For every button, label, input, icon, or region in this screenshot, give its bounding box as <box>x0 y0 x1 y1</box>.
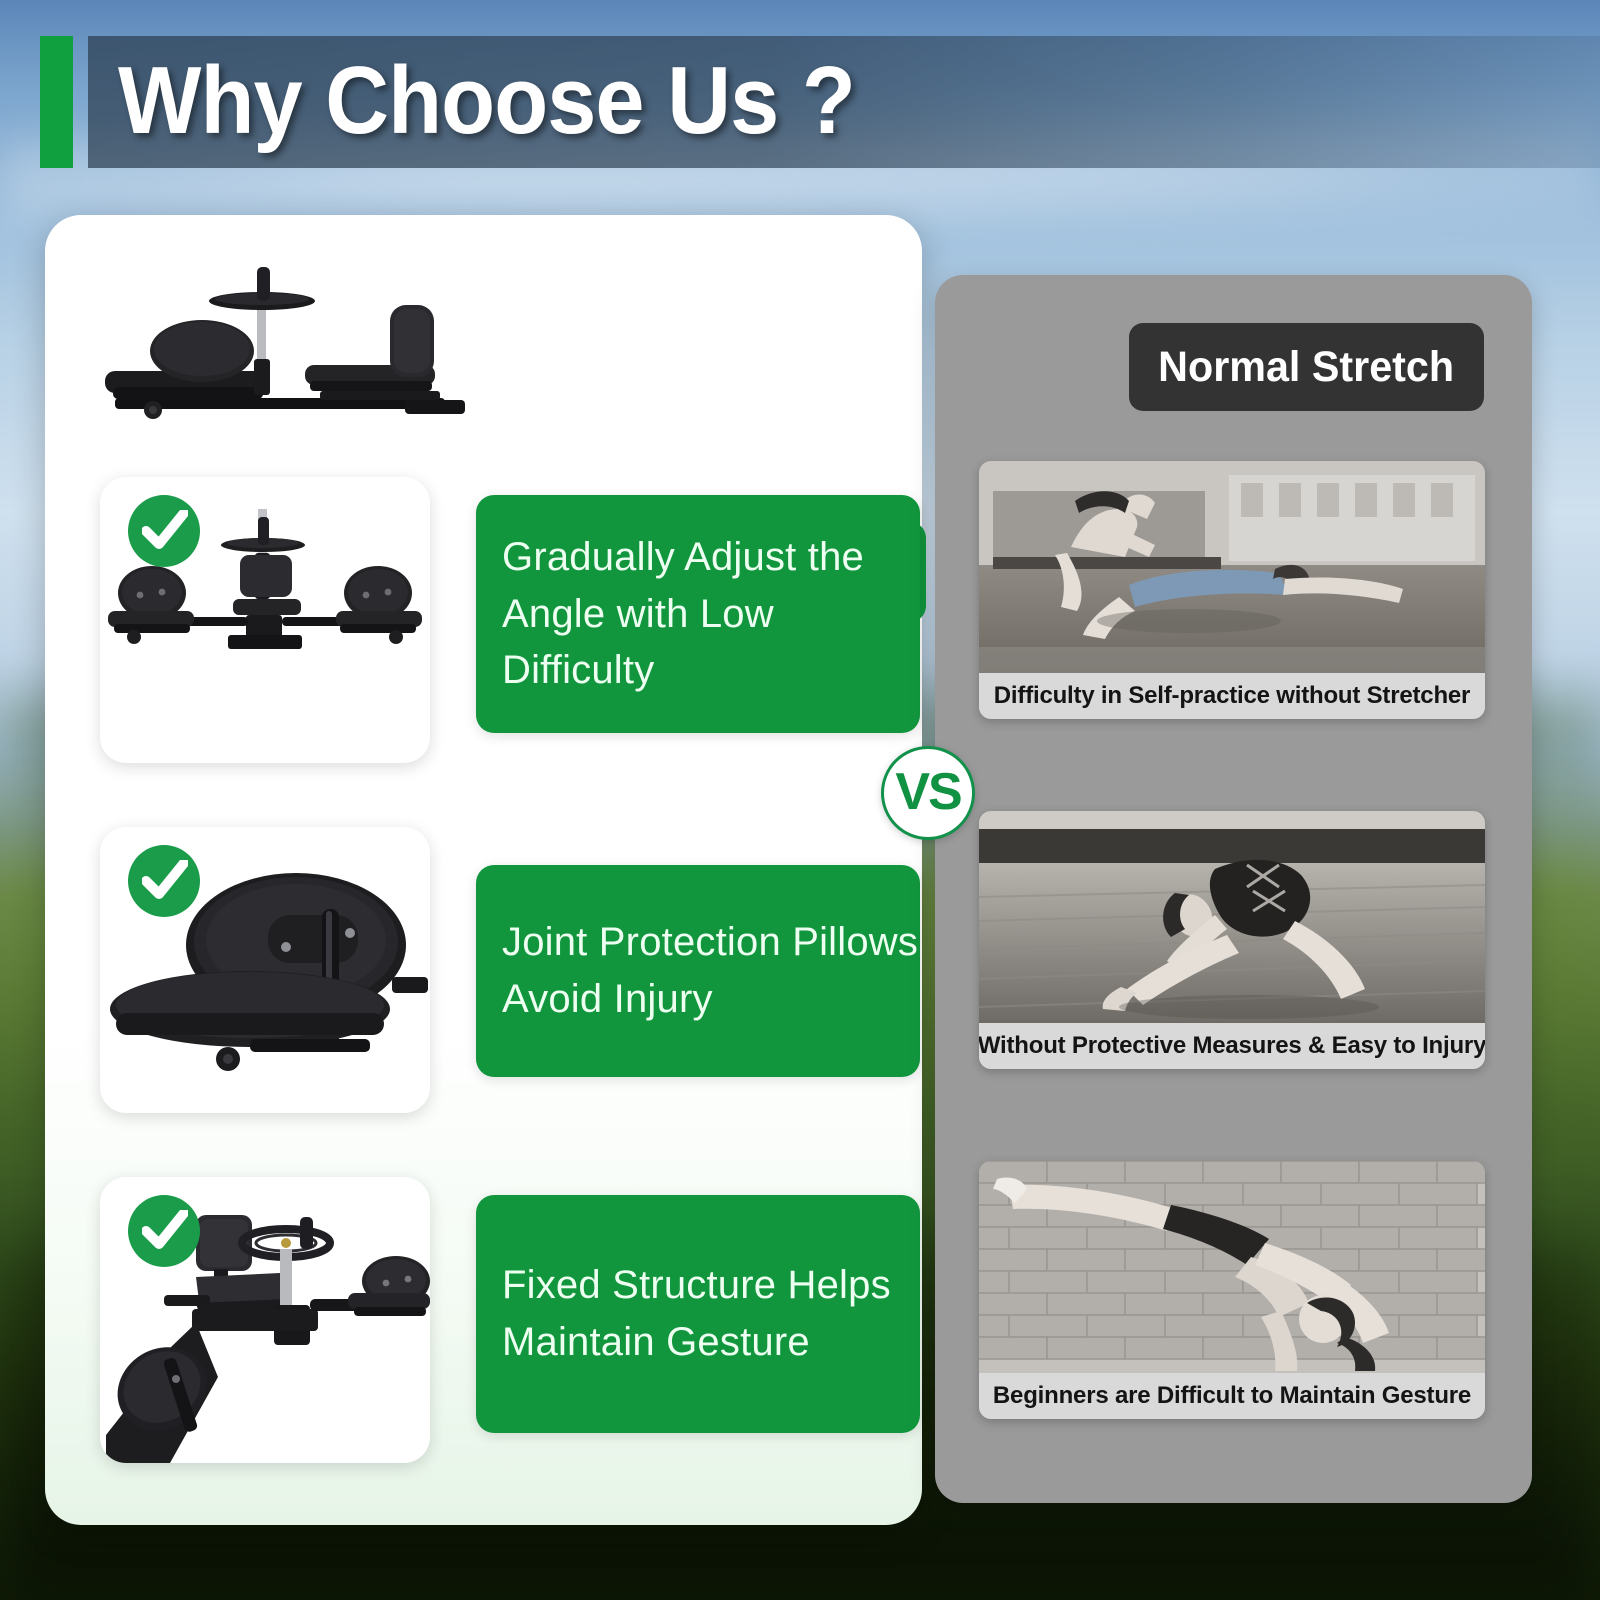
versus-label: VS <box>895 766 960 818</box>
leg-stretcher-card: Leg Stretcher <box>45 215 922 1525</box>
feature-1-text-card: Gradually Adjust the Angle with Low Diff… <box>476 495 920 733</box>
comparison-caption-1-text: Difficulty in Self-practice without Stre… <box>994 682 1470 710</box>
feature-2-text-card: Joint Protection Pillows Avoid Injury <box>476 865 920 1077</box>
feature-row-3: Fixed Structure Helps Maintain Gesture <box>100 1177 920 1463</box>
comparison-caption-3-text: Beginners are Difficult to Maintain Gest… <box>993 1382 1471 1410</box>
feature-row-2: Joint Protection Pillows Avoid Injury <box>100 827 920 1113</box>
page-header: Why Choose Us ? <box>0 28 1600 168</box>
comparison-caption-3: Beginners are Difficult to Maintain Gest… <box>979 1373 1485 1419</box>
feature-3-text-card: Fixed Structure Helps Maintain Gesture <box>476 1195 920 1433</box>
floor-side-split-stretch-photo <box>979 811 1485 1023</box>
normal-stretch-panel: Normal Stretch <box>935 275 1532 1503</box>
versus-badge: VS <box>881 746 975 840</box>
comparison-photo-card-3: Beginners are Difficult to Maintain Gest… <box>979 1161 1485 1419</box>
header-accent-bar <box>40 36 73 168</box>
comparison-caption-2-text: Without Protective Measures & Easy to In… <box>979 1032 1485 1060</box>
check-icon <box>128 845 200 917</box>
leg-stretcher-side-view-image <box>105 255 495 430</box>
comparison-caption-2: Without Protective Measures & Easy to In… <box>979 1023 1485 1069</box>
feature-3-text: Fixed Structure Helps Maintain Gesture <box>502 1257 920 1371</box>
normal-stretch-badge-label: Normal Stretch <box>1159 343 1455 392</box>
page-title: Why Choose Us ? <box>118 42 855 164</box>
feature-1-image-card <box>100 477 430 763</box>
normal-stretch-badge: Normal Stretch <box>1129 323 1484 411</box>
partner-assisted-stretch-photo <box>979 461 1485 673</box>
comparison-caption-1: Difficulty in Self-practice without Stre… <box>979 673 1485 719</box>
feature-row-1: Gradually Adjust the Angle with Low Diff… <box>100 477 920 763</box>
comparison-photo-card-1: Difficulty in Self-practice without Stre… <box>979 461 1485 719</box>
feature-1-text: Gradually Adjust the Angle with Low Diff… <box>502 529 920 699</box>
wall-split-stretch-photo <box>979 1161 1485 1373</box>
infographic-page: Why Choose Us ? <box>0 0 1600 1600</box>
feature-2-text: Joint Protection Pillows Avoid Injury <box>502 914 920 1028</box>
comparison-photo-card-2: Without Protective Measures & Easy to In… <box>979 811 1485 1069</box>
feature-2-image-card <box>100 827 430 1113</box>
check-icon <box>128 495 200 567</box>
check-icon <box>128 1195 200 1267</box>
feature-3-image-card <box>100 1177 430 1463</box>
